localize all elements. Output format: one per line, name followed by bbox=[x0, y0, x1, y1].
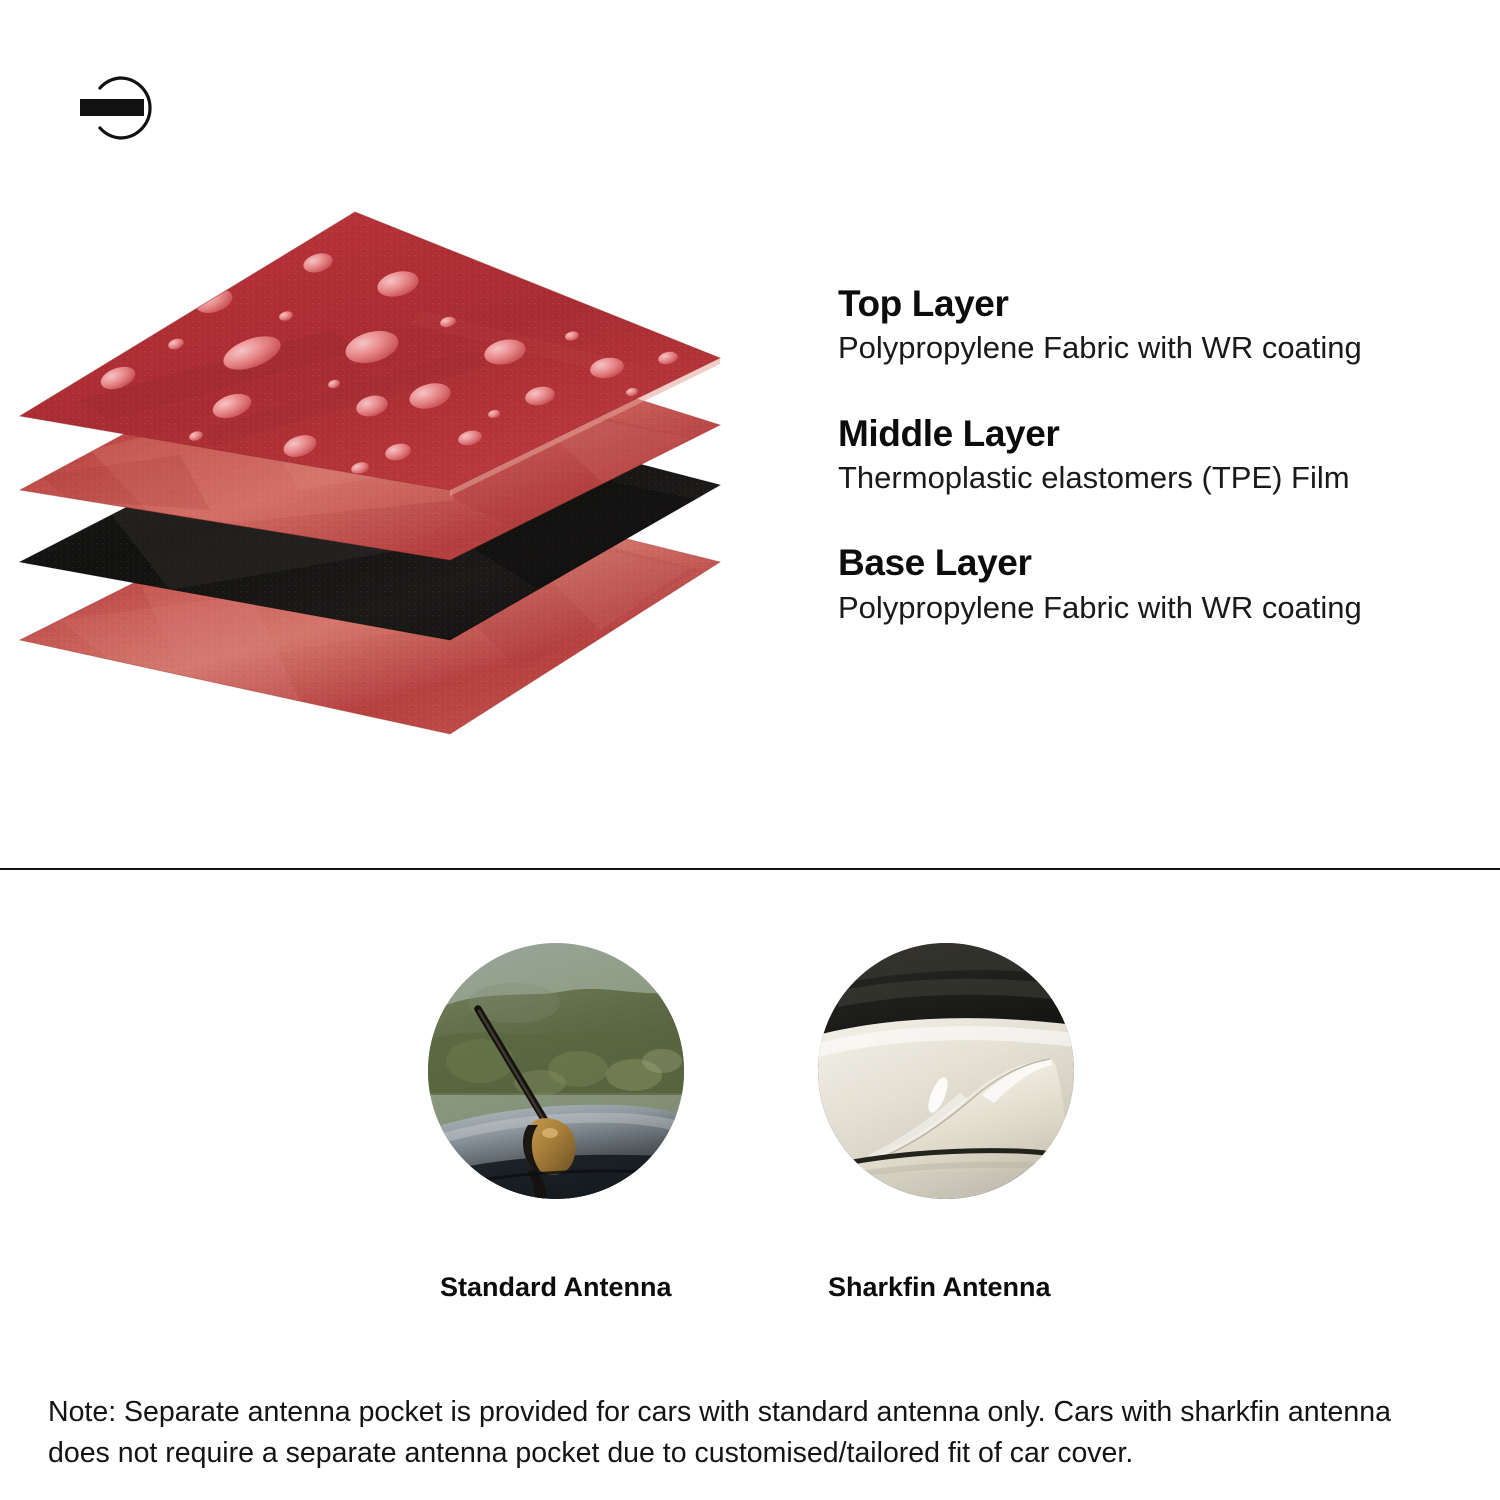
sharkfin-antenna-item bbox=[818, 943, 1074, 1199]
antenna-comparison bbox=[0, 935, 1500, 1205]
sharkfin-antenna-photo bbox=[818, 943, 1074, 1199]
middle-layer-title: Middle Layer bbox=[838, 413, 1458, 454]
legend-block-top: Top Layer Polypropylene Fabric with WR c… bbox=[838, 283, 1458, 369]
base-layer-title: Base Layer bbox=[838, 542, 1458, 583]
layer-stack-diagram bbox=[0, 200, 820, 760]
antenna-pocket-note: Note: Separate antenna pocket is provide… bbox=[48, 1392, 1460, 1474]
standard-antenna-item bbox=[428, 943, 684, 1199]
layered-fabric-stack-icon bbox=[0, 200, 820, 760]
circle-bar-logo-icon bbox=[74, 72, 160, 144]
top-layer-desc: Polypropylene Fabric with WR coating bbox=[838, 328, 1458, 368]
base-layer-desc: Polypropylene Fabric with WR coating bbox=[838, 588, 1458, 628]
standard-antenna-photo bbox=[428, 943, 684, 1199]
section-divider bbox=[0, 868, 1500, 870]
legend-block-base: Base Layer Polypropylene Fabric with WR … bbox=[838, 542, 1458, 628]
layer-legend: Top Layer Polypropylene Fabric with WR c… bbox=[838, 283, 1458, 628]
antenna-captions: Standard Antenna Sharkfin Antenna bbox=[0, 1272, 1500, 1312]
top-layer-title: Top Layer bbox=[838, 283, 1458, 324]
legend-block-middle: Middle Layer Thermoplastic elastomers (T… bbox=[838, 413, 1458, 499]
middle-layer-desc: Thermoplastic elastomers (TPE) Film bbox=[838, 458, 1458, 498]
standard-antenna-caption: Standard Antenna bbox=[440, 1272, 672, 1303]
brand-logo bbox=[74, 72, 160, 144]
sharkfin-antenna-caption: Sharkfin Antenna bbox=[828, 1272, 1051, 1303]
